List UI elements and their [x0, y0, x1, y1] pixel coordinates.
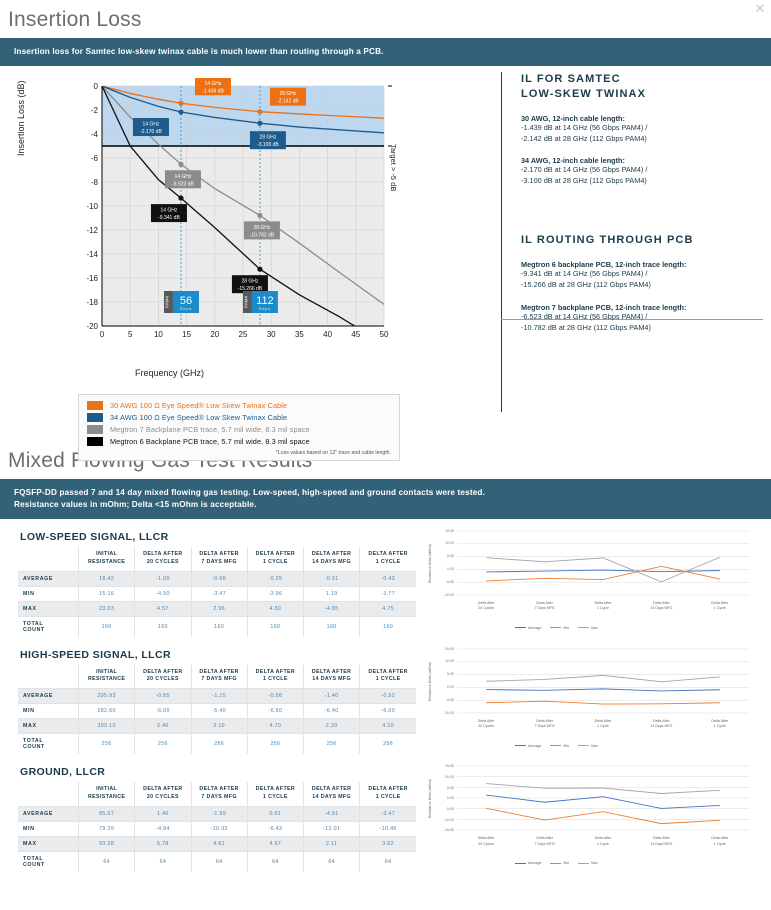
svg-text:0: 0	[94, 82, 99, 91]
megtron7-line1: -6.523 dB at 14 GHz (56 Gbps PAM4) /	[521, 312, 761, 323]
column-header: DELTA AFTER20 CYCLES	[135, 547, 191, 571]
megtron6-line1: -9.341 dB at 14 GHz (56 Gbps PAM4) /	[521, 269, 761, 280]
legend-item: Megtron 6 Backplane PCB trace, 5.7 mil w…	[87, 437, 391, 446]
table-cell: 160	[247, 616, 303, 637]
svg-text:-8: -8	[91, 178, 99, 187]
svg-text:-2.170 dB: -2.170 dB	[140, 129, 162, 135]
svg-text:-18: -18	[86, 298, 98, 307]
table-cell: 4.10	[360, 719, 416, 734]
svg-text:-2.142 dB: -2.142 dB	[277, 99, 299, 105]
legend-swatch	[87, 437, 103, 446]
mini-y-tick: 0.00	[432, 685, 454, 689]
table-cell: 64	[304, 852, 360, 873]
mfg-banner-line1: FQSFP-DD passed 7 and 14 day mixed flowi…	[14, 487, 757, 499]
mini-x-tick: Delta After1 Cycle	[691, 719, 749, 730]
svg-text:28 GHz: 28 GHz	[241, 279, 258, 285]
row-label: AVERAGE	[18, 689, 79, 704]
table-cell: 4.70	[247, 719, 303, 734]
table-cell: 79.39	[79, 822, 135, 837]
awg30-line2: -2.142 dB at 28 GHz (112 Gbps PAM4)	[521, 134, 761, 145]
llcr-mini-chart: Resistance Delta (mOhm)15.0010.005.000.0…	[427, 760, 757, 865]
mini-x-tick: Delta After7 Days MFG	[516, 601, 574, 612]
table-cell: -0.58	[247, 689, 303, 704]
svg-text:-10.782 dB: -10.782 dB	[250, 232, 275, 238]
y-axis-label: Insertion Loss (dB)	[16, 80, 26, 156]
mini-y-tick: 5.00	[432, 672, 454, 676]
legend-item: 30 AWG 100 Ω Eye Speed® Low Skew Twinax …	[87, 401, 391, 410]
column-header	[18, 782, 79, 806]
svg-text:45: 45	[351, 330, 360, 339]
svg-text:14 GHz: 14 GHz	[174, 174, 191, 180]
mini-x-tick: Delta After7 Days MFG	[516, 719, 574, 730]
mini-x-tick: Delta After1 Cycle	[691, 836, 749, 847]
table-cell: 15.16	[79, 586, 135, 601]
mini-x-tick: Delta After20 Cycles	[457, 719, 515, 730]
legend-label: 34 AWG 100 Ω Eye Speed® Low Skew Twinax …	[110, 413, 287, 422]
mfg-chart-col: Resistance Delta (mOhm)15.0010.005.000.0…	[425, 525, 760, 637]
table-cell: -0.66	[191, 571, 247, 586]
mfg-table-col: GROUND, LLCRINITIALRESISTANCEDELTA AFTER…	[0, 760, 425, 872]
table-cell: 295.93	[79, 689, 135, 704]
table-header-row: INITIALRESISTANCEDELTA AFTER20 CYCLESDEL…	[18, 665, 416, 689]
il-pcb-heading: IL ROUTING THROUGH PCB	[521, 233, 761, 248]
table-cell: 3.10	[191, 719, 247, 734]
table-title: LOW-SPEED SIGNAL, LLCR	[20, 531, 425, 543]
mini-x-tick: Delta After1 Cycle	[574, 836, 632, 847]
mini-legend-item: Average	[515, 626, 541, 630]
table-row: AVERAGE295.93-0.85-1.15-0.58-1.40-0.92	[18, 689, 416, 704]
llcr-mini-chart: Resistance Delta (mOhm)15.0010.005.000.0…	[427, 643, 757, 748]
svg-text:28 GHz: 28 GHz	[279, 91, 296, 97]
awg34-line1: -2.170 dB at 14 GHz (56 Gbps PAM4) /	[521, 165, 761, 176]
table-cell: 1.19	[304, 586, 360, 601]
mini-legend: AverageMinMax	[515, 744, 598, 748]
table-cell: -1.99	[191, 807, 247, 822]
table-cell: 18.42	[79, 571, 135, 586]
table-cell: 2.20	[304, 719, 360, 734]
mini-y-tick: 0.00	[432, 796, 454, 800]
insertion-loss-details: IL FOR SAMTEC LOW-SKEW TWINAX 30 AWG, 12…	[521, 72, 761, 334]
table-title: HIGH-SPEED SIGNAL, LLCR	[20, 649, 425, 661]
awg34-line2: -3.100 dB at 28 GHz (112 Gbps PAM4)	[521, 176, 761, 187]
column-header: DELTA AFTER14 DAYS MFG	[304, 547, 360, 571]
svg-text:-6.523 dB: -6.523 dB	[172, 181, 194, 187]
table-cell: 64	[191, 852, 247, 873]
close-icon[interactable]: ✕	[753, 2, 767, 16]
mfg-results: LOW-SPEED SIGNAL, LLCRINITIALRESISTANCED…	[0, 519, 771, 873]
table-cell: 4.57	[135, 601, 191, 616]
table-cell: 4.75	[360, 601, 416, 616]
svg-text:14 GHz: 14 GHz	[142, 121, 159, 127]
legend-footnote: *Loss values based on 12" trace and cabl…	[87, 450, 391, 456]
table-cell: 3.62	[360, 837, 416, 852]
page-root: ✕ Insertion Loss Insertion loss for Samt…	[0, 0, 771, 910]
column-header: DELTA AFTER1 CYCLE	[360, 782, 416, 806]
table-cell: -3.47	[360, 807, 416, 822]
row-label: TOTALCOUNT	[18, 616, 79, 637]
column-header: DELTA AFTER1 CYCLE	[247, 782, 303, 806]
table-cell: 256	[191, 734, 247, 755]
mini-y-tick: -10.00	[432, 711, 454, 715]
svg-text:14 GHz: 14 GHz	[204, 81, 221, 87]
mfg-section: LOW-SPEED SIGNAL, LLCRINITIALRESISTANCED…	[0, 519, 771, 637]
mini-y-tick: -10.00	[432, 818, 454, 822]
svg-text:-20: -20	[86, 322, 98, 331]
svg-text:10: 10	[154, 330, 163, 339]
column-header: DELTA AFTER1 CYCLE	[360, 547, 416, 571]
il-twinax-heading-line1: IL FOR SAMTEC	[521, 72, 761, 87]
mini-legend-item: Max	[578, 626, 598, 630]
mfg-table-col: LOW-SPEED SIGNAL, LLCRINITIALRESISTANCED…	[0, 525, 425, 637]
awg34-heading: 34 AWG, 12-inch cable length:	[521, 156, 761, 165]
table-cell: -0.92	[360, 689, 416, 704]
row-label: TOTALCOUNT	[18, 852, 79, 873]
legend-swatch	[87, 425, 103, 434]
svg-text:-2: -2	[91, 106, 99, 115]
mini-y-tick: -10.00	[432, 593, 454, 597]
table-cell: -0.25	[247, 571, 303, 586]
table-cell: 160	[360, 616, 416, 637]
mfg-section: GROUND, LLCRINITIALRESISTANCEDELTA AFTER…	[0, 754, 771, 872]
target-annotation-label: Target > -5 dB	[389, 144, 398, 191]
mini-plot	[427, 525, 757, 630]
mfg-chart-col: Resistance Delta (mOhm)15.0010.005.000.0…	[425, 643, 760, 755]
mfg-chart-col: Resistance Delta (mOhm)15.0010.005.000.0…	[425, 760, 760, 872]
mini-legend: AverageMinMax	[515, 861, 598, 865]
insertion-loss-plot: 051015202530354045500-2-4-6-8-10-12-14-1…	[62, 78, 392, 378]
table-cell: -0.85	[135, 689, 191, 704]
svg-text:20: 20	[210, 330, 219, 339]
mini-y-tick: 5.00	[432, 786, 454, 790]
legend-item: Megtron 7 Backplane PCB trace, 5.7 mil w…	[87, 425, 391, 434]
mini-x-tick: Delta After1 Cycle	[574, 601, 632, 612]
mini-y-tick: 15.00	[432, 529, 454, 533]
mini-y-tick: 5.00	[432, 554, 454, 558]
table-cell: 256	[247, 734, 303, 755]
mini-y-tick: -5.00	[432, 580, 454, 584]
row-label: MAX	[18, 719, 79, 734]
svg-text:-10: -10	[86, 202, 98, 211]
table-row: AVERAGE18.42-1.00-0.66-0.25-0.91-0.43	[18, 571, 416, 586]
table-cell: 256	[135, 734, 191, 755]
table-cell: 64	[135, 852, 191, 873]
table-cell: 256	[304, 734, 360, 755]
il-twinax-heading-line2: LOW-SKEW TWINAX	[521, 87, 761, 102]
svg-text:112: 112	[256, 295, 274, 307]
table-title: GROUND, LLCR	[20, 766, 425, 778]
legend-label: Megtron 7 Backplane PCB trace, 5.7 mil w…	[110, 425, 310, 434]
insertion-loss-block: 051015202530354045500-2-4-6-8-10-12-14-1…	[0, 66, 771, 441]
table-cell: 160	[135, 616, 191, 637]
mini-x-tick: Delta After14 Days MFG	[632, 719, 690, 730]
svg-text:-1.439 dB: -1.439 dB	[202, 88, 224, 94]
table-row: MIN282.60-6.00-5.40-6.50-6.40-6.00	[18, 704, 416, 719]
svg-text:PAM4: PAM4	[164, 295, 169, 307]
svg-text:Gbps: Gbps	[180, 307, 193, 311]
mini-x-tick: Delta After20 Cycles	[457, 836, 515, 847]
table-cell: 23.03	[79, 601, 135, 616]
table-cell: -10.46	[360, 822, 416, 837]
table-cell: 4.50	[247, 601, 303, 616]
insertion-loss-chart: 051015202530354045500-2-4-6-8-10-12-14-1…	[62, 78, 392, 318]
svg-text:50: 50	[380, 330, 389, 339]
legend-label: Megtron 6 Backplane PCB trace, 5.7 mil w…	[110, 437, 310, 446]
svg-text:5: 5	[128, 330, 133, 339]
row-label: MIN	[18, 586, 79, 601]
row-label: AVERAGE	[18, 571, 79, 586]
mini-y-tick: 15.00	[432, 764, 454, 768]
vertical-divider	[501, 72, 502, 412]
table-cell: -4.84	[135, 822, 191, 837]
mfg-table-col: HIGH-SPEED SIGNAL, LLCRINITIALRESISTANCE…	[0, 643, 425, 755]
chart-legend: 30 AWG 100 Ω Eye Speed® Low Skew Twinax …	[78, 394, 400, 461]
table-cell: -4.50	[135, 586, 191, 601]
column-header	[18, 547, 79, 571]
table-cell: -3.96	[247, 586, 303, 601]
mini-x-tick: Delta After14 Days MFG	[632, 601, 690, 612]
megtron7-line2: -10.782 dB at 28 GHz (112 Gbps PAM4)	[521, 323, 761, 334]
svg-text:56: 56	[180, 295, 192, 307]
column-header: DELTA AFTER7 DAYS MFG	[191, 547, 247, 571]
table-row: TOTALCOUNT256256256256256256	[18, 734, 416, 755]
column-header: DELTA AFTER7 DAYS MFG	[191, 782, 247, 806]
table-cell: 64	[247, 852, 303, 873]
column-header: DELTA AFTER14 DAYS MFG	[304, 665, 360, 689]
table-cell: 2.11	[304, 837, 360, 852]
table-cell: -3.77	[360, 586, 416, 601]
table-cell: -4.91	[304, 807, 360, 822]
table-cell: 160	[304, 616, 360, 637]
mini-y-tick: 10.00	[432, 659, 454, 663]
table-row: MIN79.39-4.84-10.33-6.43-12.01-10.46	[18, 822, 416, 837]
llcr-table: INITIALRESISTANCEDELTA AFTER20 CYCLESDEL…	[18, 665, 416, 755]
table-cell: -0.91	[304, 571, 360, 586]
llcr-mini-chart: Resistance Delta (mOhm)15.0010.005.000.0…	[427, 525, 757, 630]
svg-text:14 GHz: 14 GHz	[160, 207, 177, 213]
mini-legend-item: Max	[578, 744, 598, 748]
table-cell: 2.96	[191, 601, 247, 616]
table-cell: -6.40	[304, 704, 360, 719]
table-cell: 0.61	[247, 807, 303, 822]
table-cell: 6.78	[135, 837, 191, 852]
table-cell: -5.40	[191, 704, 247, 719]
table-cell: 64	[360, 852, 416, 873]
row-label: AVERAGE	[18, 807, 79, 822]
table-row: MAX93.286.784.614.672.113.62	[18, 837, 416, 852]
svg-text:0: 0	[100, 330, 105, 339]
mini-y-tick: -5.00	[432, 807, 454, 811]
svg-text:-12: -12	[86, 226, 98, 235]
legend-label: 30 AWG 100 Ω Eye Speed® Low Skew Twinax …	[110, 401, 287, 410]
legend-swatch	[87, 413, 103, 422]
mini-y-tick: 15.00	[432, 647, 454, 651]
svg-text:40: 40	[323, 330, 332, 339]
insertion-loss-banner: Insertion loss for Samtec low-skew twina…	[0, 38, 771, 66]
awg30-heading: 30 AWG, 12-inch cable length:	[521, 114, 761, 123]
table-row: MIN15.16-4.50-3.47-3.961.19-3.77	[18, 586, 416, 601]
row-label: MIN	[18, 822, 79, 837]
mini-legend-item: Average	[515, 861, 541, 865]
svg-text:25: 25	[239, 330, 248, 339]
table-cell: 160	[191, 616, 247, 637]
table-cell: -1.15	[191, 689, 247, 704]
legend-swatch	[87, 401, 103, 410]
table-row: MAX23.034.572.964.50-4.854.75	[18, 601, 416, 616]
megtron6-line2: -15.266 dB at 28 GHz (112 Gbps PAM4)	[521, 280, 761, 291]
column-header: INITIALRESISTANCE	[79, 782, 135, 806]
table-cell: 282.60	[79, 704, 135, 719]
mini-plot	[427, 760, 757, 865]
column-header: DELTA AFTER1 CYCLE	[247, 665, 303, 689]
mini-y-tick: 10.00	[432, 541, 454, 545]
table-cell: -1.40	[304, 689, 360, 704]
table-row: TOTALCOUNT646464646464	[18, 852, 416, 873]
mini-legend-item: Min	[550, 861, 569, 865]
table-cell: 2.40	[135, 719, 191, 734]
mfg-banner: FQSFP-DD passed 7 and 14 day mixed flowi…	[0, 479, 771, 519]
mini-legend: AverageMinMax	[515, 626, 598, 630]
x-axis-label: Frequency (GHz)	[135, 368, 204, 378]
row-label: TOTALCOUNT	[18, 734, 79, 755]
mini-y-tick: -5.00	[432, 698, 454, 702]
mini-y-axis-label: Resistance Delta (mOhm)	[428, 544, 432, 583]
mini-x-tick: Delta After7 Days MFG	[516, 836, 574, 847]
table-cell: -6.00	[360, 704, 416, 719]
mini-x-tick: Delta After1 Cycle	[574, 719, 632, 730]
mini-x-tick: Delta After14 Days MFG	[632, 836, 690, 847]
table-cell: -10.33	[191, 822, 247, 837]
table-cell: 64	[79, 852, 135, 873]
mini-x-tick: Delta After1 Cycle	[691, 601, 749, 612]
column-header: DELTA AFTER1 CYCLE	[247, 547, 303, 571]
llcr-table: INITIALRESISTANCEDELTA AFTER20 CYCLESDEL…	[18, 547, 416, 637]
table-row: TOTALCOUNT160160160160160160	[18, 616, 416, 637]
table-cell: 256	[360, 734, 416, 755]
svg-text:-6: -6	[91, 154, 99, 163]
svg-text:-14: -14	[86, 250, 98, 259]
mini-y-tick: -15.00	[432, 828, 454, 832]
column-header	[18, 665, 79, 689]
table-cell: -6.00	[135, 704, 191, 719]
svg-text:PAM4: PAM4	[243, 295, 248, 307]
mini-legend-item: Max	[578, 861, 598, 865]
svg-text:35: 35	[295, 330, 304, 339]
table-cell: -6.50	[247, 704, 303, 719]
column-header: DELTA AFTER14 DAYS MFG	[304, 782, 360, 806]
svg-text:30: 30	[267, 330, 276, 339]
table-header-row: INITIALRESISTANCEDELTA AFTER20 CYCLESDEL…	[18, 782, 416, 806]
table-cell: 4.67	[247, 837, 303, 852]
awg30-line1: -1.439 dB at 14 GHz (56 Gbps PAM4) /	[521, 123, 761, 134]
table-cell: -12.01	[304, 822, 360, 837]
table-cell: -1.00	[135, 571, 191, 586]
table-cell: 303.10	[79, 719, 135, 734]
mini-y-axis-label: Resistance Delta (mOhm)	[428, 662, 432, 701]
svg-text:28 GHz: 28 GHz	[259, 135, 276, 141]
table-cell: 93.28	[79, 837, 135, 852]
svg-text:-16: -16	[86, 274, 98, 283]
mini-y-tick: 10.00	[432, 775, 454, 779]
row-label: MAX	[18, 837, 79, 852]
svg-text:28 GHz: 28 GHz	[253, 225, 270, 231]
table-cell: -0.43	[360, 571, 416, 586]
svg-text:-4: -4	[91, 130, 99, 139]
mini-y-tick: 0.00	[432, 567, 454, 571]
llcr-table: INITIALRESISTANCEDELTA AFTER20 CYCLESDEL…	[18, 782, 416, 872]
mini-legend-item: Average	[515, 744, 541, 748]
mfg-banner-line2: Resistance values in mOhm; Delta <15 mOh…	[14, 499, 757, 511]
svg-text:-3.100 dB: -3.100 dB	[257, 142, 279, 148]
megtron6-heading: Megtron 6 backplane PCB, 12-inch trace l…	[521, 260, 761, 269]
table-cell: 256	[79, 734, 135, 755]
table-cell: 1.40	[135, 807, 191, 822]
table-cell: -6.43	[247, 822, 303, 837]
table-cell: 4.61	[191, 837, 247, 852]
legend-item: 34 AWG 100 Ω Eye Speed® Low Skew Twinax …	[87, 413, 391, 422]
table-row: MAX303.102.403.104.702.204.10	[18, 719, 416, 734]
megtron7-heading: Megtron 7 backplane PCB, 12-inch trace l…	[521, 303, 761, 312]
svg-text:Gbps: Gbps	[259, 307, 272, 311]
mini-plot	[427, 643, 757, 748]
mini-x-tick: Delta After20 Cycles	[457, 601, 515, 612]
table-cell: -3.47	[191, 586, 247, 601]
svg-text:15: 15	[182, 330, 191, 339]
mfg-section: HIGH-SPEED SIGNAL, LLCRINITIALRESISTANCE…	[0, 637, 771, 755]
table-cell: 160	[79, 616, 135, 637]
row-label: MAX	[18, 601, 79, 616]
row-label: MIN	[18, 704, 79, 719]
column-header: DELTA AFTER7 DAYS MFG	[191, 665, 247, 689]
insertion-loss-banner-text: Insertion loss for Samtec low-skew twina…	[14, 46, 757, 58]
svg-text:-9.341 dB: -9.341 dB	[158, 215, 180, 221]
table-cell: -4.85	[304, 601, 360, 616]
column-header: INITIALRESISTANCE	[79, 547, 135, 571]
column-header: DELTA AFTER20 CYCLES	[135, 665, 191, 689]
column-header: DELTA AFTER1 CYCLE	[360, 665, 416, 689]
table-row: AVERAGE85.671.40-1.990.61-4.91-3.47	[18, 807, 416, 822]
column-header: INITIALRESISTANCE	[79, 665, 135, 689]
mini-legend-item: Min	[550, 626, 569, 630]
mini-legend-item: Min	[550, 744, 569, 748]
table-header-row: INITIALRESISTANCEDELTA AFTER20 CYCLESDEL…	[18, 547, 416, 571]
table-cell: 85.67	[79, 807, 135, 822]
il-twinax-heading: IL FOR SAMTEC LOW-SKEW TWINAX	[521, 72, 761, 102]
page-title: Insertion Loss	[0, 0, 771, 38]
column-header: DELTA AFTER20 CYCLES	[135, 782, 191, 806]
